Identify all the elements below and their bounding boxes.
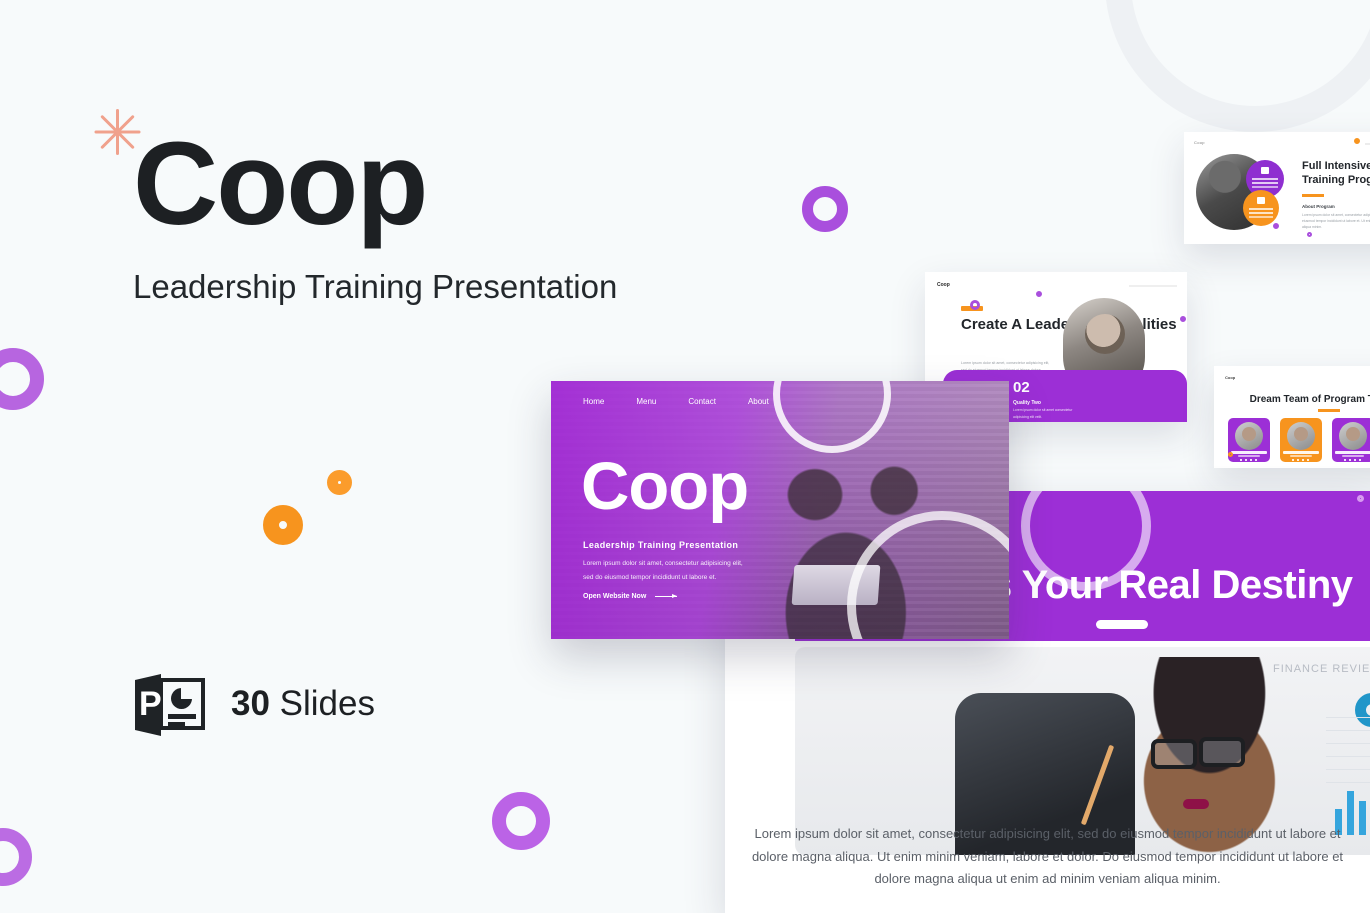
hero-title: Coop: [581, 453, 748, 520]
team-member-role: [1342, 455, 1364, 457]
slide-card-training-program[interactable]: Coop Full Intensive Training Program Abo…: [1184, 132, 1370, 244]
orange-rule: [1302, 194, 1324, 197]
orange-dot-decoration: [1354, 138, 1360, 144]
grid-chart-decoration: [1326, 713, 1370, 783]
poster-stage: Coop Leadership Training Presentation P …: [0, 0, 1370, 913]
slides-count-text: 30 Slides: [231, 684, 375, 724]
orange-rule: [1318, 409, 1340, 412]
hero-nav[interactable]: Home Menu Contact About: [583, 397, 769, 406]
slide-logo: Coop: [937, 282, 950, 288]
slide-logo: Coop: [1225, 375, 1235, 380]
purple-dot-decoration: [1357, 495, 1364, 502]
photo-chart-label: FINANCE REVIEW: [1273, 663, 1370, 675]
slides-count-label: Slides: [270, 684, 375, 723]
purple-dot-decoration: [1307, 232, 1312, 237]
page-title: Coop: [133, 128, 617, 240]
purple-ring-decoration: [492, 792, 550, 850]
team-card-list: [1228, 418, 1370, 462]
open-website-link[interactable]: Open Website Now: [583, 593, 677, 600]
arrow-right-icon: [655, 596, 677, 598]
social-icons: [1240, 459, 1258, 461]
nav-item-menu[interactable]: Menu: [636, 397, 656, 406]
purple-ring-decoration: [0, 348, 44, 410]
hero-subtitle: Leadership Training Presentation: [583, 540, 738, 550]
slide-title: Full Intensive Training Program: [1302, 160, 1370, 188]
team-card: [1228, 418, 1270, 462]
team-member-role: [1290, 455, 1312, 457]
purple-ring-decoration: [0, 828, 32, 886]
team-member-name: [1231, 451, 1267, 454]
orange-badge-circle: [1243, 190, 1279, 226]
list-item-number: 02: [1013, 379, 1030, 396]
purple-ring-decoration: [802, 186, 848, 232]
powerpoint-icon-letter: P: [139, 686, 161, 722]
slide-header-rule: [1365, 143, 1370, 145]
open-website-label: Open Website Now: [583, 593, 646, 600]
social-icons: [1344, 459, 1362, 461]
hero-body-text: Lorem ipsum dolor sit amet, consectetur …: [583, 557, 753, 584]
avatar: [1287, 422, 1315, 450]
slides-count-number: 30: [231, 684, 270, 723]
banner-title: s Your Real Destiny: [990, 563, 1353, 608]
purple-ring-decoration: [970, 300, 980, 310]
list-item-title: Quality Two: [1013, 400, 1041, 406]
white-rule: [1096, 620, 1148, 629]
slide-logo: Coop: [1194, 140, 1205, 145]
nav-item-contact[interactable]: Contact: [688, 397, 716, 406]
glasses-icon: [1151, 739, 1197, 769]
orange-dot-decoration: [1228, 452, 1233, 457]
slide-section-label: About Program: [1302, 204, 1335, 209]
gray-ring-decoration: [1105, 0, 1370, 132]
slide-header-rule: [1129, 285, 1177, 287]
slide-body-text: Lorem ipsum dolor sit amet, consectetur …: [1302, 212, 1370, 230]
slide-card-hero[interactable]: Home Menu Contact About Coop Leadership …: [551, 381, 1009, 639]
slide-body-text: Lorem ipsum dolor sit amet, consectetur …: [725, 823, 1370, 891]
glasses-icon: [1199, 737, 1245, 767]
team-member-role: [1238, 455, 1260, 457]
headline-block: Coop Leadership Training Presentation: [133, 128, 617, 306]
slide-card-dream-team[interactable]: Coop Dream Team of Program Trainess: [1214, 366, 1370, 468]
page-subtitle: Leadership Training Presentation: [133, 268, 617, 306]
avatar: [1235, 422, 1263, 450]
social-icons: [1292, 459, 1310, 461]
nav-item-home[interactable]: Home: [583, 397, 604, 406]
avatar: [1339, 422, 1367, 450]
nav-item-about[interactable]: About: [748, 397, 769, 406]
orange-ring-decoration: [327, 470, 352, 495]
slides-count-badge: P 30 Slides: [135, 670, 375, 738]
list-item-body: Lorem ipsum dolor sit amet consectetur a…: [1013, 407, 1079, 420]
team-card: [1332, 418, 1370, 462]
team-member-name: [1283, 451, 1319, 454]
team-card: [1280, 418, 1322, 462]
powerpoint-icon: P: [135, 670, 207, 738]
team-member-name: [1335, 451, 1370, 454]
slide-title: Dream Team of Program Trainess: [1214, 394, 1370, 405]
orange-ring-decoration: [263, 505, 303, 545]
